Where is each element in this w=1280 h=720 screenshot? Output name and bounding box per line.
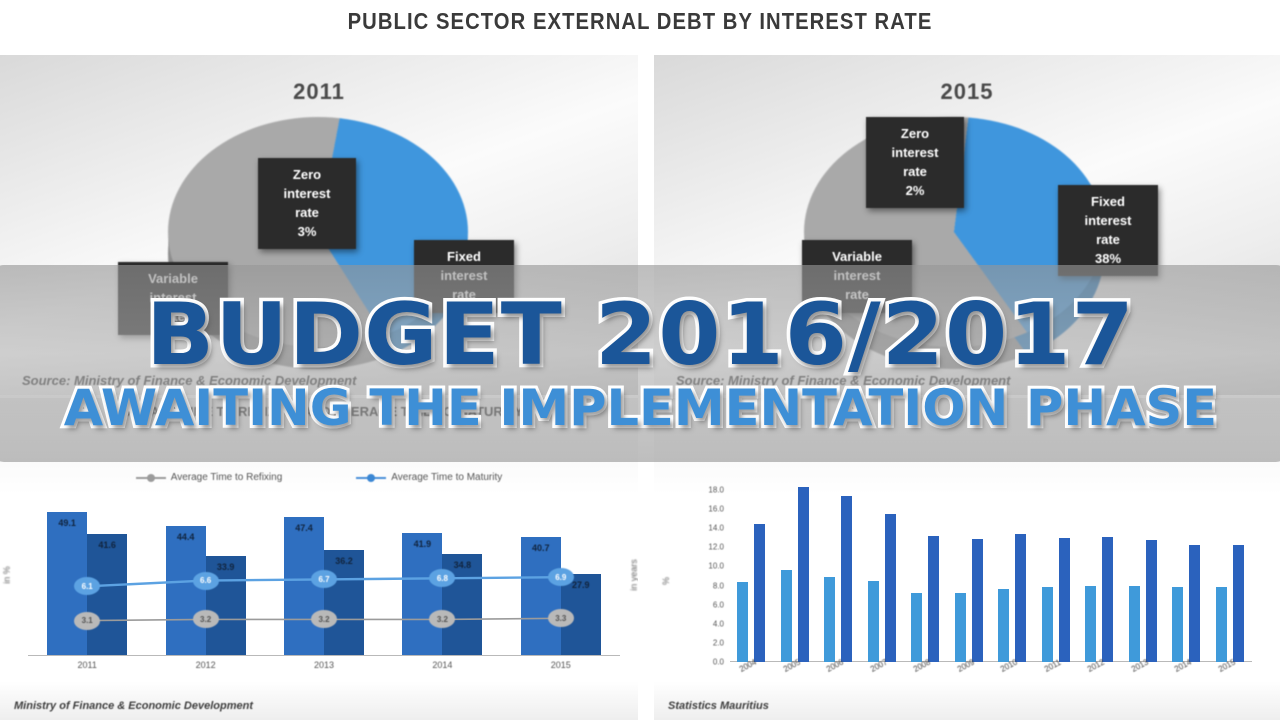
bar-series-dark [885,514,896,662]
chart-right-ylabel: % [661,577,671,585]
bar-series-light [955,593,966,662]
page-title: PUBLIC SECTOR EXTERNAL DEBT BY INTEREST … [77,8,1203,35]
bar-series-light [781,570,792,662]
y-axis-tick: 16.0 [708,505,724,514]
screenshot-root: PUBLIC SECTOR EXTERNAL DEBT BY INTEREST … [0,0,1280,720]
y-axis-tick: 4.0 [713,619,724,628]
bar-series-dark [1233,545,1244,662]
x-axis-tick: 2011 [52,660,122,670]
y-axis-tick: 8.0 [713,581,724,590]
source-note-statistics-bottom-right: Statistics Mauritius [668,700,769,712]
bar-value-label: 41.6 [87,540,127,550]
bar-series-dark [1059,538,1070,662]
pie-callout-fixed-2015: Fixed interest rate 38% [1058,185,1158,276]
line-point-refixing: 3.1 [74,612,100,630]
pie-callout-zero-2015: Zero interest rate 2% [866,117,964,208]
bar-value-label: 47.4 [284,523,324,533]
bar-series-b: 36.2 [324,550,364,655]
bar-series-dark [754,524,765,662]
chart-right-plot: 0.02.04.06.08.010.012.014.016.018.020042… [730,490,1252,662]
bar-series-light [737,582,748,662]
x-axis-tick: 2015 [526,660,596,670]
chart-left-y2label: in years [629,559,638,591]
bar-group: 44.433.9 [166,526,246,655]
x-axis-tick: 2012 [171,660,241,670]
bar-group [817,490,861,662]
bar-group [1122,490,1166,662]
bar-series-dark [1102,537,1113,662]
chart-left-plot: 49.141.620116.13.144.433.920126.63.247.4… [28,496,620,656]
overlay-title-primary: BUDGET 2016/2017 [146,294,1135,377]
bar-series-light [1216,587,1227,662]
bar-series-a: 40.7 [521,537,561,655]
bar-series-light [868,581,879,662]
bar-series-b: 41.6 [87,534,127,655]
bar-series-dark [1146,540,1157,662]
bar-group [904,490,948,662]
y-axis-tick: 14.0 [708,524,724,533]
y-axis-tick: 2.0 [713,638,724,647]
bar-series-dark [928,536,939,662]
bar-series-b: 34.8 [442,554,482,655]
bar-series-dark [1015,534,1026,662]
x-axis-tick: 2013 [289,660,359,670]
y-axis-tick: 12.0 [708,543,724,552]
bar-series-dark [972,539,983,662]
bar-series-dark [798,487,809,662]
legend-item-maturity: Average Time to Maturity [356,472,502,483]
bar-value-label: 33.9 [206,562,246,572]
x-axis-tick: 2014 [407,660,477,670]
bar-group [1078,490,1122,662]
legend-label-refixing: Average Time to Refixing [171,472,283,483]
chart-left-axis-line [28,655,620,656]
bar-series-b: 33.9 [206,556,246,655]
bar-group [1165,490,1209,662]
bar-series-dark [841,496,852,662]
bar-value-label: 36.2 [324,556,364,566]
legend-marker-maturity-icon [356,477,386,479]
bar-series-light [824,577,835,662]
bar-series-light [1042,587,1053,662]
bar-series-dark [1189,545,1200,662]
bar-series-light [1085,586,1096,662]
bar-value-label: 49.1 [47,518,87,528]
bar-group: 40.727.9 [521,537,601,655]
pie-year-2011: 2011 [0,79,638,105]
bar-group [991,490,1035,662]
overlay-title-secondary: AWAITING THE IMPLEMENTATION PHASE [63,383,1216,433]
bar-value-label: 44.4 [166,532,206,542]
bar-group: 41.934.8 [402,533,482,655]
bar-group [1209,490,1253,662]
bar-value-label: 41.9 [402,539,442,549]
chart-left-ylabel: in % [2,566,12,584]
bar-group [730,490,774,662]
chart-left-legend: Average Time to Refixing Average Time to… [0,472,638,483]
overlay-banner: BUDGET 2016/2017 AWAITING THE IMPLEMENTA… [0,265,1280,462]
pie-year-2015: 2015 [654,79,1280,105]
legend-marker-refixing-icon [136,477,166,479]
bar-group [774,490,818,662]
pie-callout-zero-2011: Zero interest rate 3% [258,158,356,249]
legend-label-maturity: Average Time to Maturity [391,472,502,483]
line-point-maturity: 6.9 [548,568,574,586]
bar-group [861,490,905,662]
bar-group [948,490,992,662]
bar-value-label: 34.8 [442,560,482,570]
bar-series-light [998,589,1009,662]
bar-series-a: 41.9 [402,533,442,655]
bar-series-light [1129,586,1140,662]
source-note-mofed-bottom-left: Ministry of Finance & Economic Developme… [14,700,253,712]
bar-series-a: 44.4 [166,526,206,655]
bar-series-light [911,593,922,662]
y-axis-tick: 0.0 [713,658,724,667]
line-point-maturity: 6.6 [193,572,219,590]
bar-series-light [1172,587,1183,662]
y-axis-tick: 18.0 [708,486,724,495]
y-axis-tick: 6.0 [713,600,724,609]
legend-item-refixing: Average Time to Refixing [136,472,283,483]
bar-group [1035,490,1079,662]
bar-value-label: 40.7 [521,543,561,553]
y-axis-tick: 10.0 [708,562,724,571]
